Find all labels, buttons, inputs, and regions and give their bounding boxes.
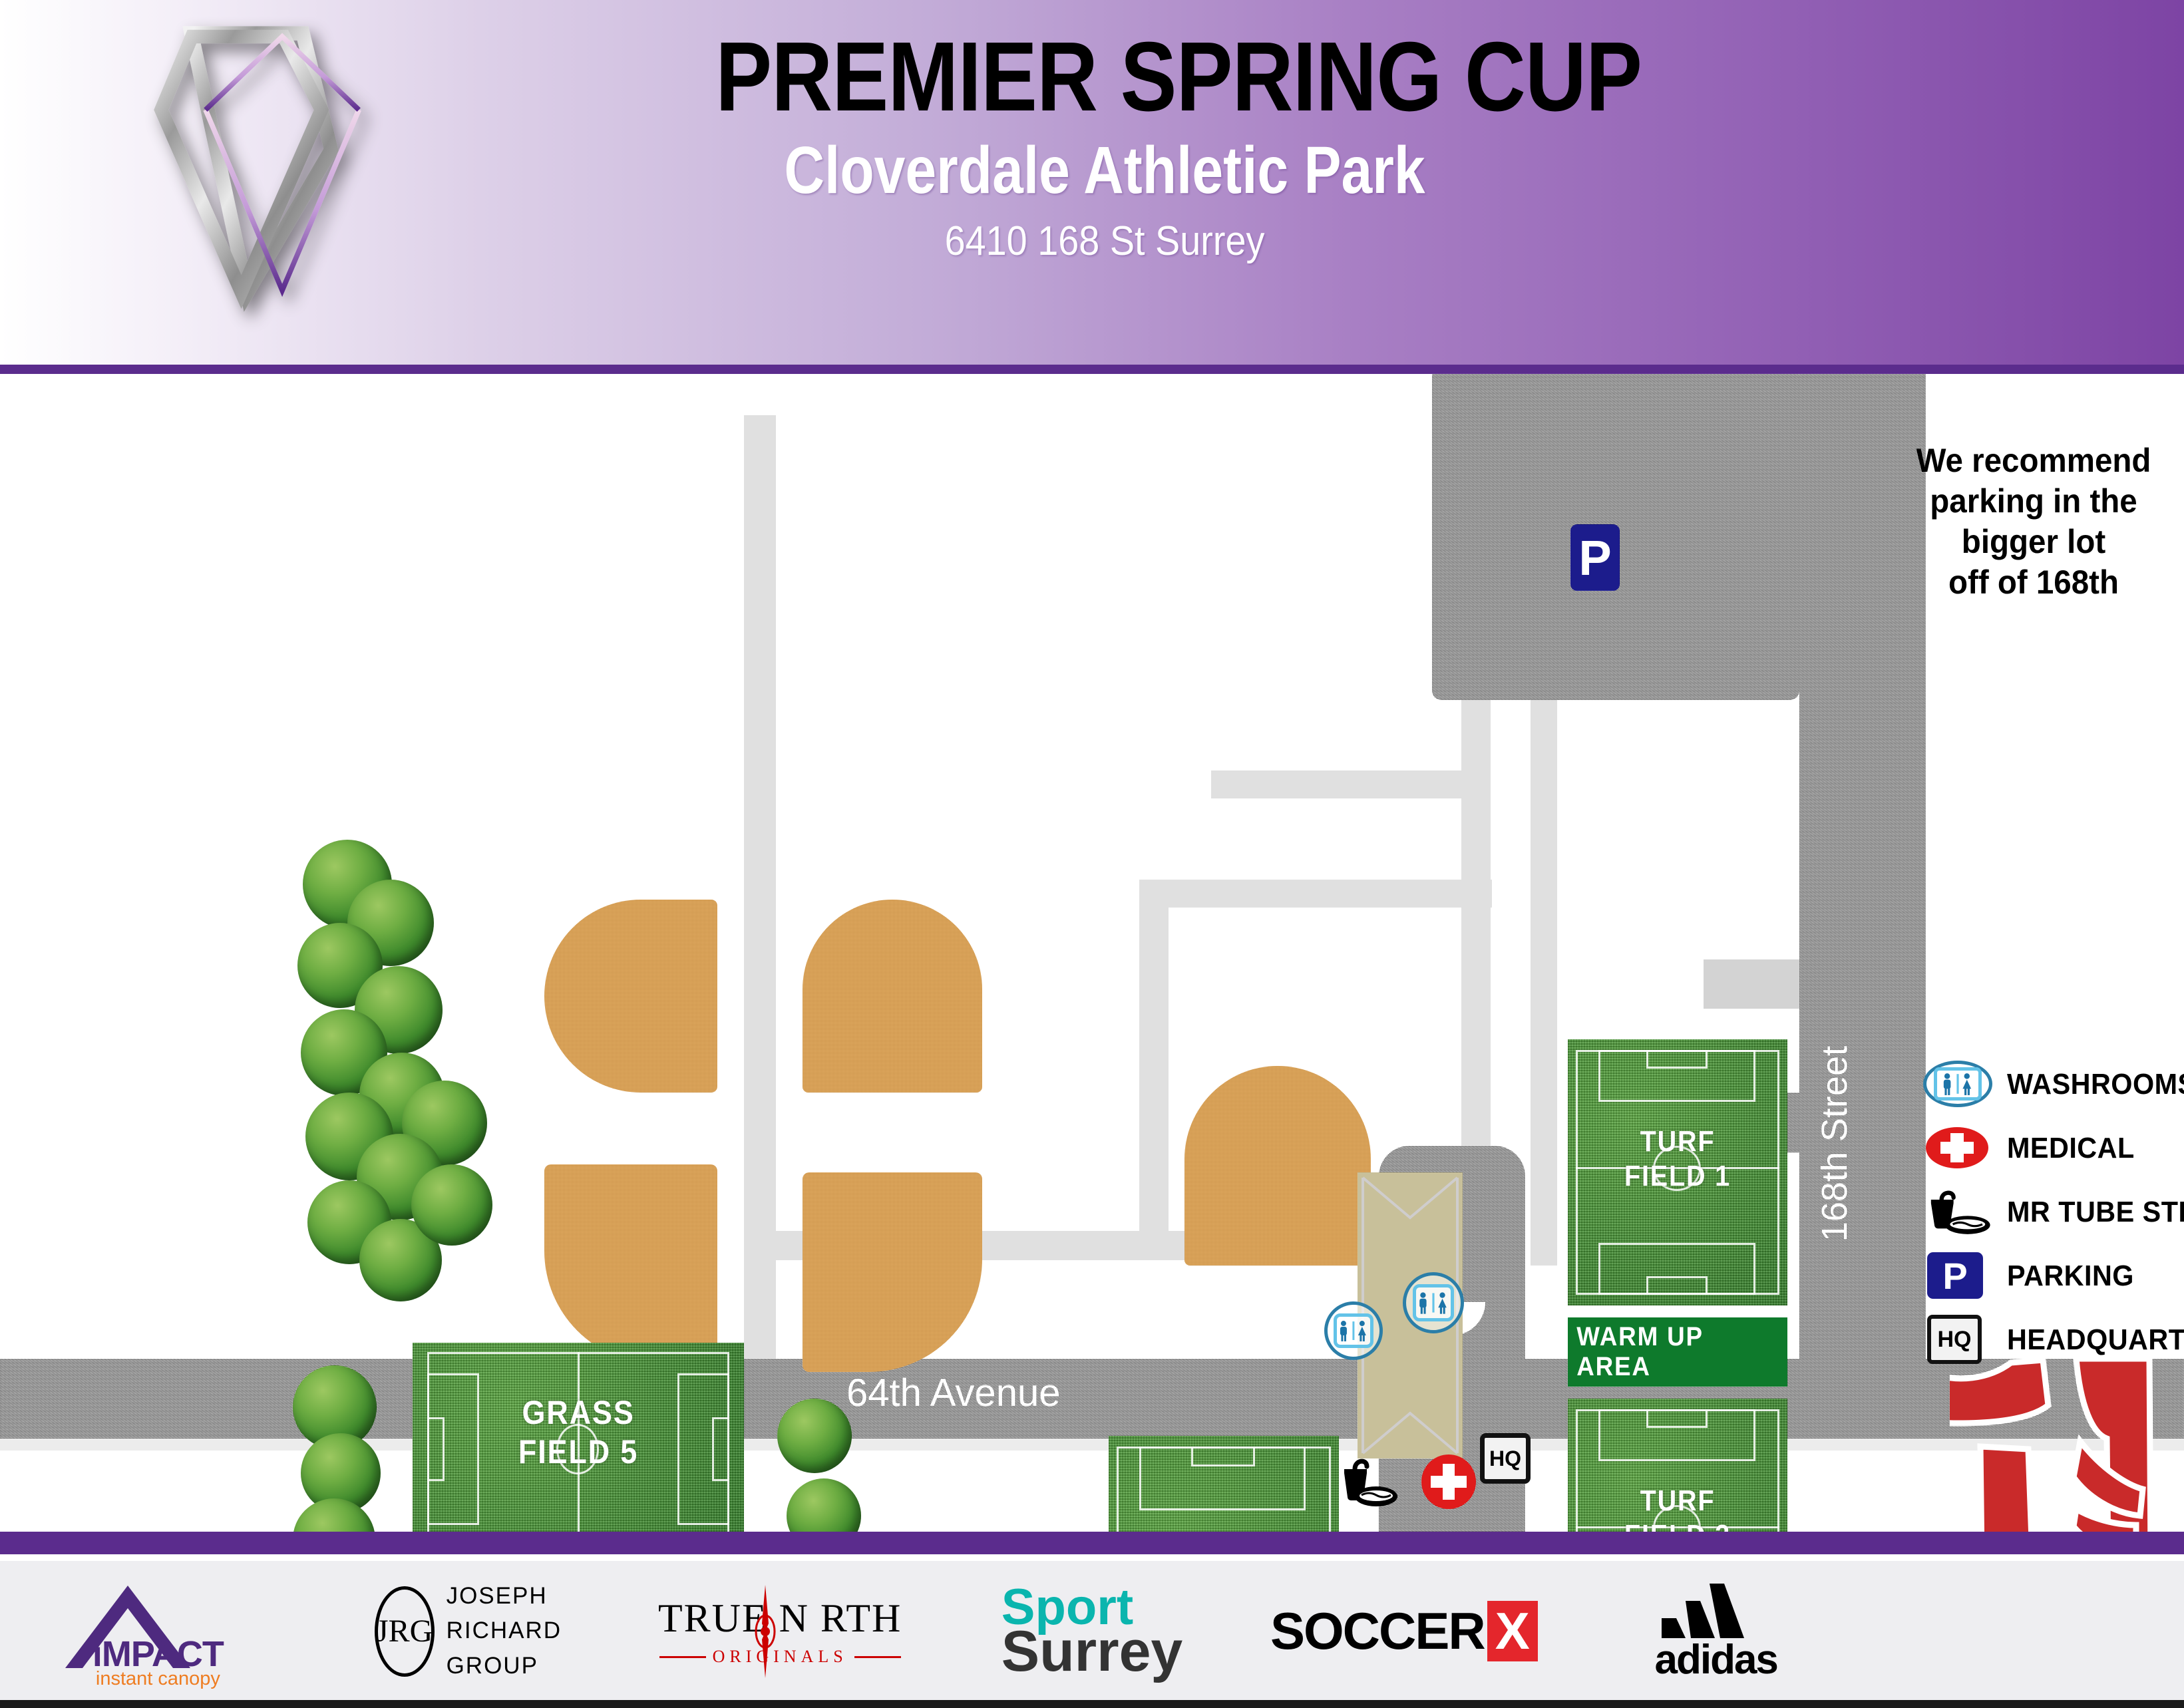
street-label-168th: 168th Street — [1814, 1046, 1855, 1242]
washroom-icon[interactable] — [1324, 1301, 1383, 1360]
ball-diamond-1 — [544, 900, 717, 1093]
washroom-plate — [1413, 1284, 1455, 1321]
jrg-monogram: JRG — [375, 1586, 435, 1677]
grass-field-5: GRASS FIELD 5 — [413, 1343, 744, 1532]
street-label-64th: 64th Avenue — [846, 1371, 1060, 1415]
washroom-icon[interactable] — [1403, 1272, 1464, 1333]
sponsor-bar: iMPACT instant canopy JRG JOSEPH RICHARD… — [0, 1561, 2184, 1701]
soccerx-x: X — [1487, 1601, 1538, 1661]
sponsor-sport-surrey: Sport Surrey — [936, 1561, 1248, 1701]
field-label-line1: TURF — [1640, 1484, 1716, 1517]
jrg-line3: GROUP — [447, 1649, 562, 1684]
jrg-line2: RICHARD — [447, 1614, 562, 1649]
sponsor-adidas: adidas — [1560, 1561, 1872, 1701]
hq-label: HQ — [1489, 1447, 1521, 1471]
legend-item-parking: P PARKING — [1923, 1244, 2176, 1308]
field-label-line2: FIELD 5 — [518, 1433, 638, 1470]
sponsor-spacer — [1872, 1561, 2184, 1701]
title-block: PREMIER SPRING CUP Cloverdale Athletic P… — [652, 28, 1557, 265]
map-legend: WASHROOMS MEDICAL MR TUBE — [1923, 1053, 2176, 1372]
legend-item-medical: MEDICAL — [1923, 1116, 2176, 1180]
washroom-icon — [1923, 1059, 1992, 1110]
field-label-line1: TURF — [1640, 1125, 1716, 1158]
food-icon — [1923, 1187, 1992, 1238]
warm-up-area: WARM UP AREA — [1568, 1317, 1787, 1387]
ball-diamond-2 — [803, 900, 982, 1093]
ball-diamond-3 — [544, 1164, 717, 1364]
field-label-line2: FIELD 1 — [1624, 1160, 1731, 1192]
legend-label: HEADQUARTERS — [2007, 1323, 2184, 1357]
sponsor-true-north-originals: TRUE N RTH ORIGINALS — [624, 1561, 936, 1701]
sponsor-soccerx: SOCCER X — [1248, 1561, 1560, 1701]
path-horizontal-east-top — [1211, 770, 1491, 798]
sponsor-joseph-richard-group: JRG JOSEPH RICHARD GROUP — [312, 1561, 624, 1701]
footer-bottom-bar — [0, 1700, 2184, 1708]
medical-icon — [1923, 1123, 1992, 1174]
field-label-line1: GRASS — [522, 1394, 634, 1431]
soccerx-word: SOCCER — [1270, 1601, 1485, 1661]
adidas-wordmark: adidas — [1650, 1636, 1783, 1683]
player-silhouette-graphic — [1950, 1359, 2184, 1532]
hq-icon: HQ — [1923, 1315, 1992, 1365]
sport-surrey-line2: Surrey — [1001, 1628, 1183, 1675]
ball-diamond-4 — [803, 1172, 982, 1372]
header-divider — [0, 365, 2184, 374]
legend-label: PARKING — [2007, 1260, 2134, 1293]
medical-icon[interactable] — [1421, 1454, 1476, 1509]
parking-icon[interactable]: P — [1570, 524, 1620, 591]
path-vertical-mid — [1139, 880, 1169, 1260]
page-title: PREMIER SPRING CUP — [715, 28, 1494, 126]
jrg-line1: JOSEPH — [447, 1579, 562, 1614]
hq-icon[interactable]: HQ — [1480, 1433, 1531, 1484]
legend-label: MR TUBE STEAK — [2007, 1196, 2184, 1229]
legend-item-food: MR TUBE STEAK — [1923, 1180, 2176, 1244]
sponsor-impact-tagline: instant canopy — [68, 1668, 248, 1690]
adidas-bars-icon — [1650, 1580, 1783, 1639]
parking-note: We recommend parking in the bigger lot o… — [1910, 440, 2157, 603]
turf-field-1: TURF FIELD 1 — [1568, 1039, 1787, 1305]
legend-label: MEDICAL — [2007, 1132, 2135, 1165]
parking-label: P — [1578, 530, 1611, 586]
legend-item-washrooms: WASHROOMS — [1923, 1053, 2176, 1116]
road-168th-spur-2 — [1704, 959, 1810, 1009]
footer-divider — [0, 1532, 2184, 1554]
warm-up-label: WARM UP AREA — [1576, 1322, 1779, 1382]
venue-address: 6410 168 St Surrey — [697, 218, 1512, 265]
ball-diamond-5 — [1184, 1066, 1371, 1266]
field-label-line2: FIELD 2 — [1624, 1519, 1731, 1532]
page-header: PREMIER SPRING CUP Cloverdale Athletic P… — [0, 0, 2184, 365]
path-horizontal-upper — [1139, 880, 1492, 908]
food-icon[interactable] — [1335, 1452, 1399, 1510]
turf-field-2: TURF FIELD 2 — [1568, 1399, 1787, 1532]
venue-name: Cloverdale Athletic Park — [725, 136, 1485, 206]
venue-map: GRASS FIELD 5 GRASS FIELD 4 — [0, 374, 2184, 1532]
parking-lot-168th-spur — [1799, 594, 1866, 647]
washroom-plate — [1334, 1313, 1373, 1349]
parking-icon: P — [1923, 1251, 1992, 1301]
diamond-logo — [100, 7, 446, 353]
sponsor-impact: iMPACT instant canopy — [0, 1561, 312, 1701]
legend-label: WASHROOMS — [2007, 1068, 2184, 1101]
turf-field-3: TURF FIELD 3 — [1109, 1436, 1339, 1532]
